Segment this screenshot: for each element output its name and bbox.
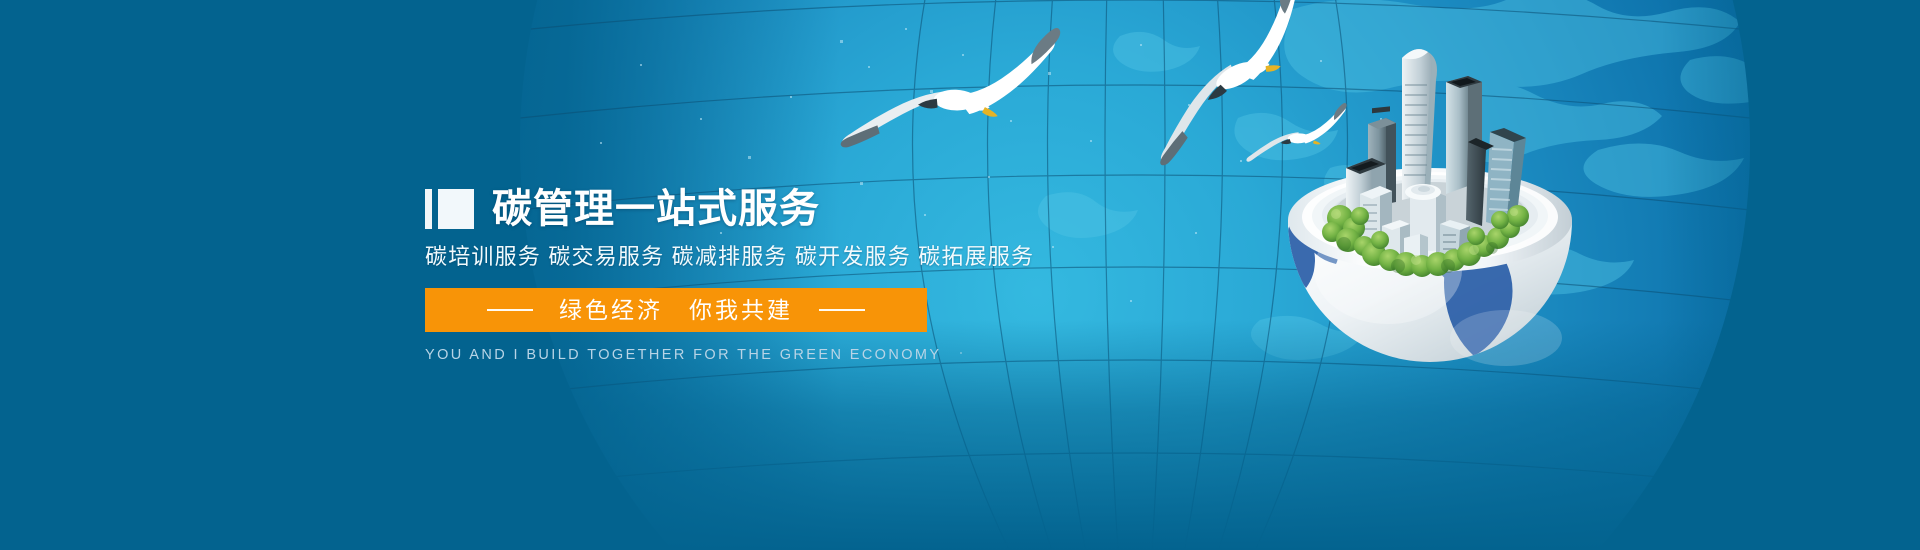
eco-city-globe-illustration — [1270, 20, 1590, 430]
slogan-banner: 绿色经济 你我共建 — [425, 288, 927, 332]
bar-block-shape — [438, 189, 474, 229]
banner-copy-block: 碳管理一站式服务 碳培训服务 碳交易服务 碳减排服务 碳开发服务 碳拓展服务 绿… — [425, 186, 1125, 364]
headline-row: 碳管理一站式服务 — [425, 186, 1125, 232]
slogan-text: 绿色经济 你我共建 — [559, 297, 793, 323]
bar-thin-shape — [425, 189, 432, 229]
promo-banner: 碳管理一站式服务 碳培训服务 碳交易服务 碳减排服务 碳开发服务 碳拓展服务 绿… — [0, 0, 1920, 550]
slogan-rule-right — [819, 309, 865, 311]
service-list: 碳培训服务 碳交易服务 碳减排服务 碳开发服务 碳拓展服务 — [425, 244, 1125, 270]
page-title: 碳管理一站式服务 — [492, 187, 820, 231]
bar-block-icon — [425, 189, 474, 229]
slogan-rule-left — [487, 309, 533, 311]
english-tagline: YOU AND I BUILD TOGETHER FOR THE GREEN E… — [425, 346, 927, 364]
